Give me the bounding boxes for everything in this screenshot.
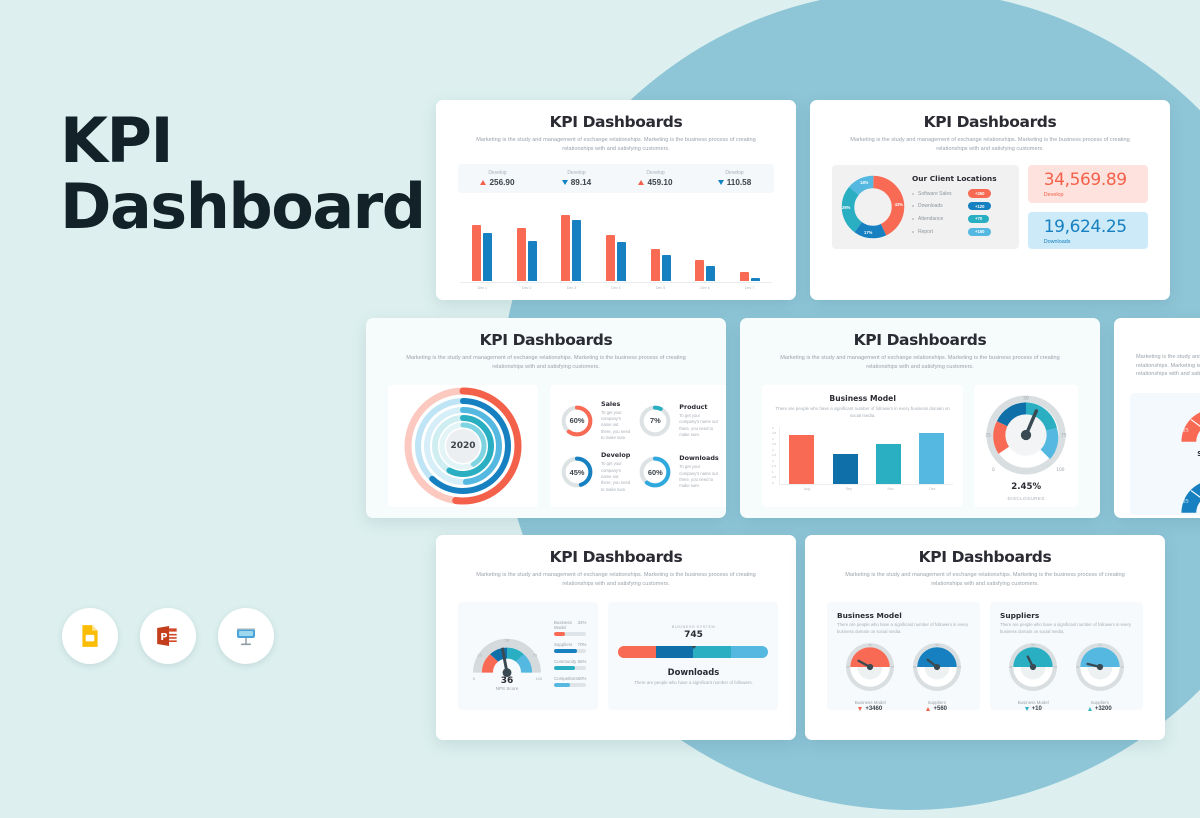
kpi-box-number: 34,569.89 bbox=[1044, 170, 1148, 190]
nps-gauge-svg: 50 25 75 0 100 bbox=[470, 621, 544, 683]
radial-gauge: 50 25 75 bbox=[844, 641, 896, 693]
card-header: KPI Dashboards Marketing is the study an… bbox=[740, 318, 1100, 371]
business-model-subtitle: There are people who have a significant … bbox=[772, 406, 953, 420]
progress-fill bbox=[554, 666, 575, 670]
progress-bar-list: Business Model34%Suppliers70%Community65… bbox=[554, 620, 586, 693]
legend-row: Attendance+70 bbox=[912, 215, 997, 223]
semicircle-gauge-svg: 50 25 75 bbox=[1177, 403, 1200, 445]
x-tick-label: Dev 2 bbox=[516, 286, 538, 290]
segmented-slider[interactable] bbox=[618, 646, 768, 658]
svg-text:25: 25 bbox=[1009, 665, 1013, 669]
x-axis-ticks: AugSepNovDec bbox=[786, 487, 953, 491]
bar bbox=[740, 272, 749, 281]
mini-donut-percent: 7% bbox=[638, 404, 672, 438]
triangle-down-icon bbox=[1025, 707, 1029, 711]
bar bbox=[919, 433, 944, 484]
legend-label: Software Sales bbox=[918, 191, 964, 197]
card-subtitle: Marketing is the study and management of… bbox=[775, 354, 1065, 371]
progress-percent: 70% bbox=[578, 642, 587, 647]
svg-text:25: 25 bbox=[986, 433, 992, 439]
chart-axis-line bbox=[460, 282, 772, 283]
bar bbox=[695, 260, 704, 281]
nps-gauge: 50 25 75 0 100 36 NPS Score bbox=[470, 621, 544, 691]
panel-title: Suppliers bbox=[1000, 611, 1133, 620]
radial-gauge: 50 25 75 0 100 bbox=[983, 392, 1069, 478]
svg-text:25: 25 bbox=[1183, 498, 1189, 504]
svg-text:75: 75 bbox=[957, 665, 961, 669]
bar-chart-x-axis: Dev 1Dev 2Dev 3Dev 4Dev 5Dev 6Dev 7 bbox=[460, 286, 772, 290]
radial-gauge: 50 25 75 bbox=[1007, 641, 1059, 693]
system-caption: BUSINESS SYSTEM bbox=[672, 625, 715, 629]
svg-text:50: 50 bbox=[1098, 643, 1102, 647]
mini-donut-percent: 45% bbox=[560, 455, 594, 489]
bar bbox=[517, 228, 526, 281]
card-title: KPI Dashboards bbox=[458, 548, 774, 566]
disclosures-gauge-panel: 50 25 75 0 100 2.45% DISCLOSURES bbox=[974, 385, 1078, 507]
legend-bullet-icon bbox=[912, 193, 914, 195]
triangle-up-icon bbox=[638, 180, 644, 185]
bar-chart bbox=[460, 203, 772, 281]
panel-subtitle: There are people who have a significant … bbox=[837, 622, 970, 635]
radial-gauge: 50 25 75 bbox=[911, 641, 963, 693]
progress-track bbox=[554, 632, 586, 636]
progress-track bbox=[554, 666, 586, 670]
kpi-stat-label: Develop bbox=[537, 170, 616, 176]
gauge-delta: +10 bbox=[1032, 706, 1042, 712]
kpi-stat-value: 89.14 bbox=[571, 178, 592, 187]
kpi-box-column: 34,569.89 Develop 19,624.25 Downloads bbox=[1028, 165, 1148, 249]
progress-head: Community65% bbox=[554, 659, 586, 664]
progress-row: Business Model34% bbox=[554, 620, 586, 636]
mini-donut-chart: 7% bbox=[638, 404, 672, 438]
card-header: Marketing is the study and management of… bbox=[1114, 318, 1200, 379]
progress-fill bbox=[554, 632, 565, 636]
gauge-item: 50 25 75 Suppliers +560 bbox=[911, 641, 963, 712]
x-tick-label: Sep bbox=[836, 487, 861, 491]
progress-track bbox=[554, 683, 586, 687]
gauge-delta: +560 bbox=[933, 706, 947, 712]
mini-kpi: 60%DownloadsTo get your company's name o… bbox=[638, 451, 718, 492]
nps-caption: NPS Score bbox=[470, 686, 544, 691]
gauge-label: Software bbox=[1177, 450, 1200, 458]
mini-kpi: 60%SalesTo get your company's name out t… bbox=[560, 400, 630, 441]
mini-kpi-text: DownloadsTo get your company's name out … bbox=[679, 454, 718, 489]
kpi-stat-cell: Develop 110.58 bbox=[695, 170, 774, 187]
svg-text:75: 75 bbox=[1054, 665, 1058, 669]
progress-row: Competitors50% bbox=[554, 676, 586, 687]
gauge-delta: +3460 bbox=[865, 706, 882, 712]
card-subtitle: Marketing is the study and management of… bbox=[845, 136, 1135, 153]
y-tick-label: 4.5 bbox=[772, 432, 776, 435]
mini-donut-chart: 60% bbox=[560, 404, 594, 438]
slide-card-semicircle-gauges[interactable]: Marketing is the study and management of… bbox=[1114, 318, 1200, 518]
radial-gauge: 50 25 75 bbox=[1074, 641, 1126, 693]
kpi-stat-strip: Develop 256.90 Develop 89.14 Develop 459… bbox=[458, 164, 774, 193]
bar-group bbox=[695, 203, 715, 281]
google-slides-icon[interactable] bbox=[62, 608, 118, 664]
mini-kpi-description: To get your company's name out there, yo… bbox=[679, 464, 718, 489]
card-header: KPI Dashboards Marketing is the study an… bbox=[436, 535, 796, 588]
progress-percent: 50% bbox=[578, 676, 587, 681]
legend-badge: +120 bbox=[968, 202, 991, 210]
panel-gauges: 50 25 75 Business Model +10 bbox=[1000, 641, 1133, 712]
gauge-panel-suppliers: Suppliers There are people who have a si… bbox=[990, 602, 1143, 710]
bar bbox=[662, 255, 671, 282]
system-number: 745 bbox=[684, 630, 703, 640]
mini-kpi-text: ProductTo get your company's name out th… bbox=[679, 403, 718, 438]
kpi-stat-label: Develop bbox=[695, 170, 774, 176]
progress-percent: 34% bbox=[578, 620, 587, 630]
progress-head: Competitors50% bbox=[554, 676, 586, 681]
card-header: KPI Dashboards Marketing is the study an… bbox=[366, 318, 726, 371]
y-tick-label: 0.5 bbox=[772, 476, 776, 479]
y-tick-label: 1.5 bbox=[772, 465, 776, 468]
svg-text:75: 75 bbox=[533, 654, 538, 658]
legend-label: Attendance bbox=[918, 216, 964, 222]
mini-donut-chart: 45% bbox=[560, 455, 594, 489]
client-legend: Our Client Locations Software Sales+260D… bbox=[912, 174, 997, 240]
card-subtitle: Marketing is the study and management of… bbox=[471, 571, 761, 588]
slider-segment bbox=[731, 646, 769, 658]
gauge-caption: DISCLOSURES bbox=[1008, 496, 1045, 501]
kpi-stat-cell: Develop 256.90 bbox=[458, 170, 537, 187]
mini-donut-percent: 60% bbox=[560, 404, 594, 438]
legend-row: Report+150 bbox=[912, 228, 997, 236]
slide-card-donut-kpi[interactable]: KPI Dashboards Marketing is the study an… bbox=[810, 100, 1170, 300]
card-title: KPI Dashboards bbox=[827, 548, 1143, 566]
mini-kpi-grid: 60%SalesTo get your company's name out t… bbox=[550, 385, 726, 507]
mini-kpi-description: To get your company's name out there, yo… bbox=[601, 410, 630, 441]
legend-badge: +150 bbox=[968, 228, 991, 236]
concentric-rings-chart: 2020 bbox=[388, 385, 538, 507]
card-body: 2020 60%SalesTo get your company's name … bbox=[388, 385, 704, 507]
gauge-name: Business Model bbox=[1007, 700, 1059, 705]
svg-text:50: 50 bbox=[1032, 643, 1036, 647]
panel-gauges: 50 25 75 Business Model +3460 bbox=[837, 641, 970, 712]
legend-row: Software Sales+260 bbox=[912, 189, 997, 197]
donut-slice-label: 14% bbox=[860, 180, 868, 185]
kpi-box-caption: Downloads bbox=[1044, 239, 1148, 245]
y-tick-label: 1 bbox=[772, 471, 776, 474]
bar bbox=[876, 444, 901, 484]
title-line-2: Dashboard bbox=[60, 174, 425, 240]
svg-text:50: 50 bbox=[935, 643, 939, 647]
y-tick-label: 3 bbox=[772, 449, 776, 452]
card-header: KPI Dashboards Marketing is the study an… bbox=[436, 100, 796, 153]
legend-bullet-icon bbox=[912, 218, 914, 220]
gauge-value: 2.45% bbox=[1011, 482, 1041, 492]
kpi-box-downloads: 19,624.25 Downloads bbox=[1028, 212, 1148, 250]
gauge-name: Suppliers bbox=[911, 700, 963, 705]
mini-donut-chart: 60% bbox=[638, 455, 672, 489]
business-model-title: Business Model bbox=[772, 394, 953, 403]
y-tick-label: 2.5 bbox=[772, 454, 776, 457]
card-body: 50 25 75 0 100 36 NPS Score Business Mod… bbox=[458, 602, 774, 710]
gauge-name: Business Model bbox=[844, 700, 896, 705]
mini-kpi-name: Downloads bbox=[679, 454, 718, 462]
triangle-up-icon bbox=[480, 180, 486, 185]
card-title: KPI Dashboards bbox=[388, 331, 704, 349]
slider-segment bbox=[656, 646, 694, 658]
bar-group bbox=[740, 203, 760, 281]
progress-head: Suppliers70% bbox=[554, 642, 586, 647]
slide-card-bar-kpi[interactable]: KPI Dashboards Marketing is the study an… bbox=[436, 100, 796, 300]
kpi-box-number: 19,624.25 bbox=[1044, 217, 1148, 237]
card-header: KPI Dashboards Marketing is the study an… bbox=[805, 535, 1165, 588]
x-tick-label: Nov bbox=[878, 487, 903, 491]
gauge-item: 50 25 75 Suppliers +3200 bbox=[1074, 641, 1126, 712]
page-title: KPI Dashboard bbox=[60, 108, 425, 241]
x-tick-label: Dev 3 bbox=[560, 286, 582, 290]
y-tick-label: 3.5 bbox=[772, 443, 776, 446]
progress-label: Suppliers bbox=[554, 642, 572, 647]
svg-text:P: P bbox=[160, 632, 167, 643]
mini-kpi-name: Product bbox=[679, 403, 718, 411]
svg-text:25: 25 bbox=[913, 665, 917, 669]
kpi-box-develop: 34,569.89 Develop bbox=[1028, 165, 1148, 203]
bar-group bbox=[651, 203, 671, 281]
gauge-item: 50 25 75 Business Model +10 bbox=[1007, 641, 1059, 712]
progress-fill bbox=[554, 683, 570, 687]
progress-row: Community65% bbox=[554, 659, 586, 670]
bar-group bbox=[472, 203, 492, 281]
mini-kpi-name: Develop bbox=[601, 451, 630, 459]
svg-text:50: 50 bbox=[869, 643, 873, 647]
bar bbox=[606, 235, 615, 282]
card-title: KPI Dashboards bbox=[832, 113, 1148, 131]
y-tick-label: 5 bbox=[772, 427, 776, 430]
donut-slice-label: 43% bbox=[895, 202, 903, 207]
gauge-delta-wrap: +3200 bbox=[1074, 706, 1126, 712]
slider-segment bbox=[693, 646, 731, 658]
kpi-stat-cell: Develop 459.10 bbox=[616, 170, 695, 187]
bar bbox=[483, 233, 492, 281]
card-subtitle: Marketing is the study and management of… bbox=[1136, 353, 1200, 379]
triangle-up-icon bbox=[1088, 707, 1092, 711]
bar-group bbox=[606, 203, 626, 281]
gauge-delta: +3200 bbox=[1095, 706, 1112, 712]
card-header: KPI Dashboards Marketing is the study an… bbox=[810, 100, 1170, 153]
y-axis-ticks: 54.543.532.521.510.50 bbox=[772, 427, 779, 485]
x-tick-label: Dev 5 bbox=[650, 286, 672, 290]
card-title: KPI Dashboards bbox=[458, 113, 774, 131]
y-tick-label: 0 bbox=[772, 482, 776, 485]
business-model-chart-panel: Business Model There are people who have… bbox=[762, 385, 963, 507]
svg-text:100: 100 bbox=[535, 677, 543, 681]
legend-label: Report bbox=[918, 229, 964, 235]
card-subtitle: Marketing is the study and management of… bbox=[840, 571, 1130, 588]
panel-subtitle: There are people who have a significant … bbox=[1000, 622, 1133, 635]
slide-card-business-model[interactable]: KPI Dashboards Marketing is the study an… bbox=[740, 318, 1100, 518]
svg-text:75: 75 bbox=[1120, 665, 1124, 669]
gauge-item: 50 25 75 Business Model +3460 bbox=[844, 641, 896, 712]
progress-head: Business Model34% bbox=[554, 620, 586, 630]
donut-chart: 43% 17% 26% 14% bbox=[840, 174, 906, 240]
client-locations-panel: 43% 17% 26% 14% Our Client Locations Sof… bbox=[832, 165, 1019, 249]
app-format-icons: P bbox=[62, 608, 274, 664]
kpi-stat-value-wrap: 89.14 bbox=[537, 178, 616, 187]
gauge-panel-business-model: Business Model There are people who have… bbox=[827, 602, 980, 710]
mini-kpi: 7%ProductTo get your company's name out … bbox=[638, 400, 718, 441]
title-line-1: KPI bbox=[60, 108, 425, 174]
card-body: Business Model There are people who have… bbox=[762, 385, 1078, 507]
legend-bullet-icon bbox=[912, 205, 914, 207]
svg-text:0: 0 bbox=[992, 467, 995, 473]
card-body: 50 25 75 Software Develop 50 25 75 bbox=[1130, 393, 1200, 515]
progress-percent: 65% bbox=[578, 659, 587, 664]
kpi-stat-value: 256.90 bbox=[489, 178, 514, 187]
x-tick-label: Dev 7 bbox=[739, 286, 761, 290]
triangle-up-icon bbox=[926, 707, 930, 711]
kpi-stat-value-wrap: 256.90 bbox=[458, 178, 537, 187]
svg-text:75: 75 bbox=[891, 665, 895, 669]
svg-text:50: 50 bbox=[1023, 396, 1029, 402]
svg-text:25: 25 bbox=[477, 654, 482, 658]
progress-fill bbox=[554, 649, 577, 653]
donut-slice-label: 17% bbox=[864, 230, 872, 235]
svg-text:100: 100 bbox=[1056, 467, 1064, 473]
triangle-down-icon bbox=[718, 180, 724, 185]
kpi-stat-value-wrap: 459.10 bbox=[616, 178, 695, 187]
bar bbox=[651, 249, 660, 282]
x-tick-label: Dev 4 bbox=[605, 286, 627, 290]
svg-text:25: 25 bbox=[1076, 665, 1080, 669]
bar-series bbox=[779, 427, 953, 485]
legend-bullet-icon bbox=[912, 231, 914, 233]
bar-group bbox=[517, 203, 537, 281]
slide-card-nps[interactable]: KPI Dashboards Marketing is the study an… bbox=[436, 535, 796, 740]
kpi-stat-value-wrap: 110.58 bbox=[695, 178, 774, 187]
mini-donut-percent: 60% bbox=[638, 455, 672, 489]
kpi-stat-label: Develop bbox=[616, 170, 695, 176]
bar bbox=[789, 435, 814, 484]
bar bbox=[617, 242, 626, 281]
bar bbox=[528, 241, 537, 282]
legend-label: Downloads bbox=[918, 203, 964, 209]
x-tick-label: Dev 1 bbox=[471, 286, 493, 290]
y-tick-label: 4 bbox=[772, 438, 776, 441]
semicircle-gauge-software: 50 25 75 Software bbox=[1177, 403, 1200, 458]
donut-slice-label: 26% bbox=[842, 205, 850, 210]
mini-kpi-name: Sales bbox=[601, 400, 630, 408]
business-model-plot: 54.543.532.521.510.50 bbox=[772, 427, 953, 485]
progress-row: Suppliers70% bbox=[554, 642, 586, 653]
x-tick-label: Dev 6 bbox=[694, 286, 716, 290]
card-body: Business Model There are people who have… bbox=[827, 602, 1143, 710]
card-subtitle: Marketing is the study and management of… bbox=[401, 354, 691, 371]
downloads-description: There are people who have a significant … bbox=[634, 680, 753, 687]
card-title: KPI Dashboards bbox=[762, 331, 1078, 349]
svg-text:25: 25 bbox=[846, 665, 850, 669]
bar bbox=[572, 220, 581, 281]
mini-kpi: 45%DevelopTo get your company's name out… bbox=[560, 451, 630, 492]
triangle-down-icon bbox=[562, 180, 568, 185]
x-tick-label: Aug bbox=[794, 487, 819, 491]
kpi-stat-value: 459.10 bbox=[647, 178, 672, 187]
progress-label: Competitors bbox=[554, 676, 578, 681]
bar-group bbox=[561, 203, 581, 281]
downloads-slider-panel: BUSINESS SYSTEM 745 Downloads There are … bbox=[608, 602, 778, 710]
semicircle-gauge-svg: 50 25 75 bbox=[1177, 474, 1200, 516]
downloads-title: Downloads bbox=[668, 667, 720, 677]
slide-preview-canvas: KPI Dashboard P KPI Dashboards Marketing… bbox=[0, 0, 1200, 818]
legend-badge: +260 bbox=[968, 189, 991, 197]
kpi-box-caption: Develop bbox=[1044, 192, 1148, 198]
bar bbox=[751, 278, 760, 281]
y-tick-label: 2 bbox=[772, 460, 776, 463]
kpi-stat-cell: Develop 89.14 bbox=[537, 170, 616, 187]
bar bbox=[472, 225, 481, 281]
svg-text:75: 75 bbox=[1061, 433, 1067, 439]
slide-card-dual-gauges[interactable]: KPI Dashboards Marketing is the study an… bbox=[805, 535, 1165, 740]
keynote-icon[interactable] bbox=[218, 608, 274, 664]
progress-label: Community bbox=[554, 659, 576, 664]
mini-kpi-text: DevelopTo get your company's name out th… bbox=[601, 451, 630, 492]
nps-panel: 50 25 75 0 100 36 NPS Score Business Mod… bbox=[458, 602, 598, 710]
progress-label: Business Model bbox=[554, 620, 578, 630]
x-tick-label: Dec bbox=[920, 487, 945, 491]
bar bbox=[833, 454, 858, 484]
svg-text:25: 25 bbox=[1183, 427, 1189, 433]
semicircle-gauge-downloads: 50 25 75 Downloads bbox=[1177, 474, 1200, 518]
gauge-delta-wrap: +560 bbox=[911, 706, 963, 712]
powerpoint-icon[interactable]: P bbox=[140, 608, 196, 664]
slider-pointer-icon bbox=[689, 646, 699, 649]
mini-kpi-description: To get your company's name out there, yo… bbox=[679, 413, 718, 438]
panel-title: Business Model bbox=[837, 611, 970, 620]
gauge-delta-wrap: +10 bbox=[1007, 706, 1059, 712]
svg-text:0: 0 bbox=[473, 677, 476, 681]
legend-row: Downloads+120 bbox=[912, 202, 997, 210]
card-body: 43% 17% 26% 14% Our Client Locations Sof… bbox=[832, 165, 1148, 249]
rings-center-year: 2020 bbox=[404, 387, 522, 505]
bar bbox=[706, 266, 715, 282]
progress-track bbox=[554, 649, 586, 653]
kpi-stat-label: Develop bbox=[458, 170, 537, 176]
bar bbox=[561, 215, 570, 281]
triangle-down-icon bbox=[858, 707, 862, 711]
mini-kpi-text: SalesTo get your company's name out ther… bbox=[601, 400, 630, 441]
legend-badge: +70 bbox=[968, 215, 989, 223]
kpi-stat-value: 110.58 bbox=[727, 178, 752, 187]
client-locations-title: Our Client Locations bbox=[912, 174, 997, 183]
svg-text:50: 50 bbox=[505, 639, 510, 643]
slide-card-rings[interactable]: KPI Dashboards Marketing is the study an… bbox=[366, 318, 726, 518]
mini-kpi-description: To get your company's name out there, yo… bbox=[601, 461, 630, 492]
gauge-delta-wrap: +3460 bbox=[844, 706, 896, 712]
card-subtitle: Marketing is the study and management of… bbox=[471, 136, 761, 153]
gauge-name: Suppliers bbox=[1074, 700, 1126, 705]
slider-segment bbox=[618, 646, 656, 658]
